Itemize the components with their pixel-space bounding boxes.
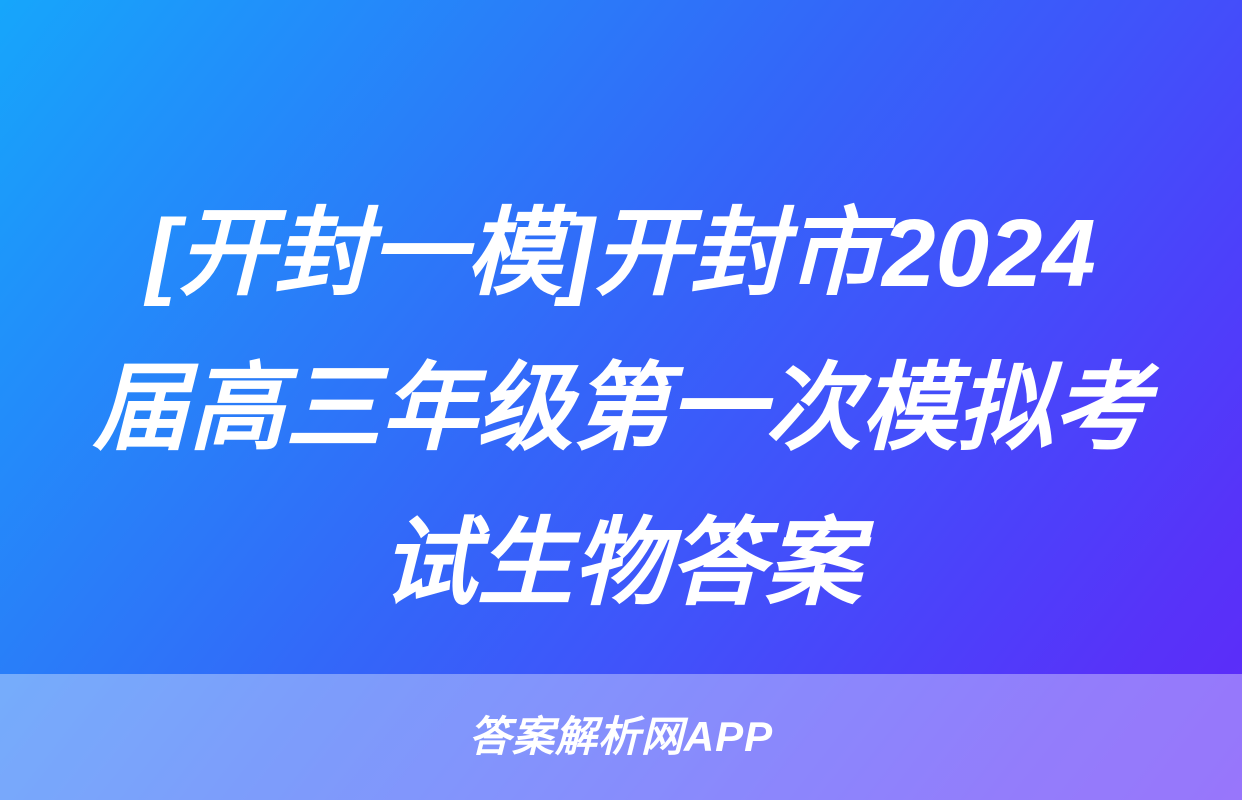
app-watermark-label: 答案解析网APP bbox=[469, 715, 773, 759]
poster-title: [开封一模]开封市2024 届高三年级第一次模拟考 试生物答案 bbox=[0, 176, 1242, 641]
title-line-3: 试生物答案 bbox=[46, 486, 1196, 641]
title-line-1: [开封一模]开封市2024 bbox=[46, 176, 1196, 331]
footer-band: 答案解析网APP bbox=[0, 674, 1242, 800]
poster-canvas: [开封一模]开封市2024 届高三年级第一次模拟考 试生物答案 答案解析网APP bbox=[0, 0, 1242, 800]
title-line-2: 届高三年级第一次模拟考 bbox=[46, 331, 1196, 486]
